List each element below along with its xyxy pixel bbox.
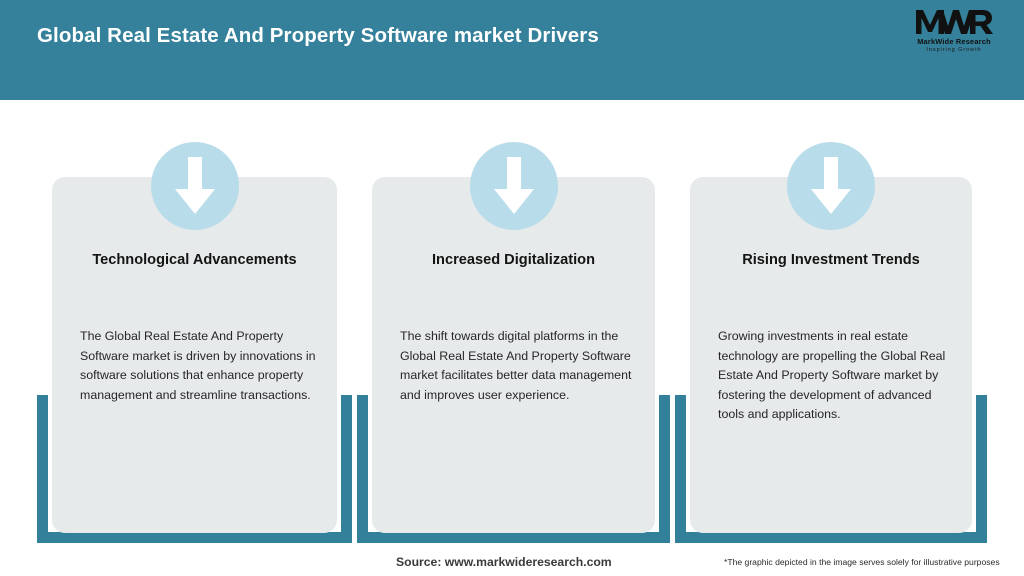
header-bar: Global Real Estate And Property Software… [0,0,1024,100]
card-surface-3: Rising Investment Trends Growing investm… [690,177,972,533]
driver-title-1: Technological Advancements [64,252,325,270]
down-arrow-glyph [492,157,536,215]
driver-body-3: Growing investments in real estate techn… [718,327,952,425]
markwide-research-logo: MarkWide Research Inspiring Growth [902,8,1006,58]
driver-card-2[interactable]: Increased Digitalization The shift towar… [357,100,670,576]
source-label: Source: www.markwideresearch.com [396,555,612,569]
down-arrow-icon [787,142,875,230]
down-arrow-glyph [173,157,217,215]
card-surface-1: Technological Advancements The Global Re… [52,177,337,533]
driver-card-1[interactable]: Technological Advancements The Global Re… [37,100,352,576]
driver-card-3[interactable]: Rising Investment Trends Growing investm… [675,100,987,576]
down-arrow-icon [151,142,239,230]
down-arrow-icon [470,142,558,230]
page-title: Global Real Estate And Property Software… [37,24,599,48]
logo-company-name: MarkWide Research [902,37,1006,46]
driver-title-2: Increased Digitalization [384,252,643,270]
down-arrow-glyph [809,157,853,215]
driver-body-2: The shift towards digital platforms in t… [400,327,635,405]
drivers-container: Technological Advancements The Global Re… [0,100,1024,576]
driver-body-1: The Global Real Estate And Property Soft… [80,327,317,405]
logo-tagline: Inspiring Growth [902,47,1006,53]
driver-title-3: Rising Investment Trends [702,252,960,270]
disclaimer-label: *The graphic depicted in the image serve… [724,557,1000,567]
mwr-logo-icon [915,8,993,36]
card-surface-2: Increased Digitalization The shift towar… [372,177,655,533]
